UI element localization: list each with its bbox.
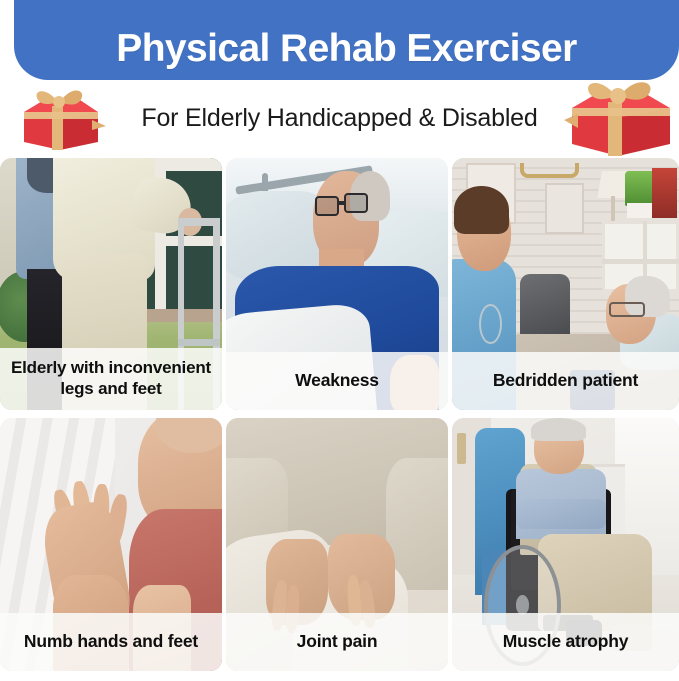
gift-box-right-icon	[564, 74, 679, 160]
page-subtitle: For Elderly Handicapped & Disabled	[141, 104, 537, 133]
card-caption-text: Joint pain	[297, 631, 378, 652]
condition-card[interactable]: Bedridden patient	[452, 158, 679, 410]
condition-card-grid: Elderly with inconvenient legs and feet …	[0, 158, 679, 681]
card-caption-text: Muscle atrophy	[503, 631, 629, 652]
condition-card[interactable]: Weakness	[226, 158, 448, 410]
card-caption: Joint pain	[226, 613, 448, 671]
card-caption-text: Bedridden patient	[493, 370, 638, 391]
card-caption-text: Elderly with inconvenient legs and feet	[6, 358, 216, 399]
page-title: Physical Rehab Exerciser	[116, 29, 576, 68]
condition-card[interactable]: Numb hands and feet	[0, 418, 222, 671]
card-caption: Elderly with inconvenient legs and feet	[0, 348, 222, 410]
card-caption: Numb hands and feet	[0, 613, 222, 671]
card-caption-text: Weakness	[295, 370, 379, 391]
header: Physical Rehab Exerciser For Elderly Han…	[0, 0, 679, 155]
card-caption-text: Numb hands and feet	[24, 631, 198, 652]
condition-card[interactable]: Muscle atrophy	[452, 418, 679, 671]
gift-box-left-icon	[14, 82, 106, 154]
card-caption: Muscle atrophy	[452, 613, 679, 671]
condition-card[interactable]: Joint pain	[226, 418, 448, 671]
card-caption: Bedridden patient	[452, 352, 679, 410]
condition-card[interactable]: Elderly with inconvenient legs and feet	[0, 158, 222, 410]
title-banner: Physical Rehab Exerciser	[14, 0, 679, 80]
card-caption: Weakness	[226, 352, 448, 410]
